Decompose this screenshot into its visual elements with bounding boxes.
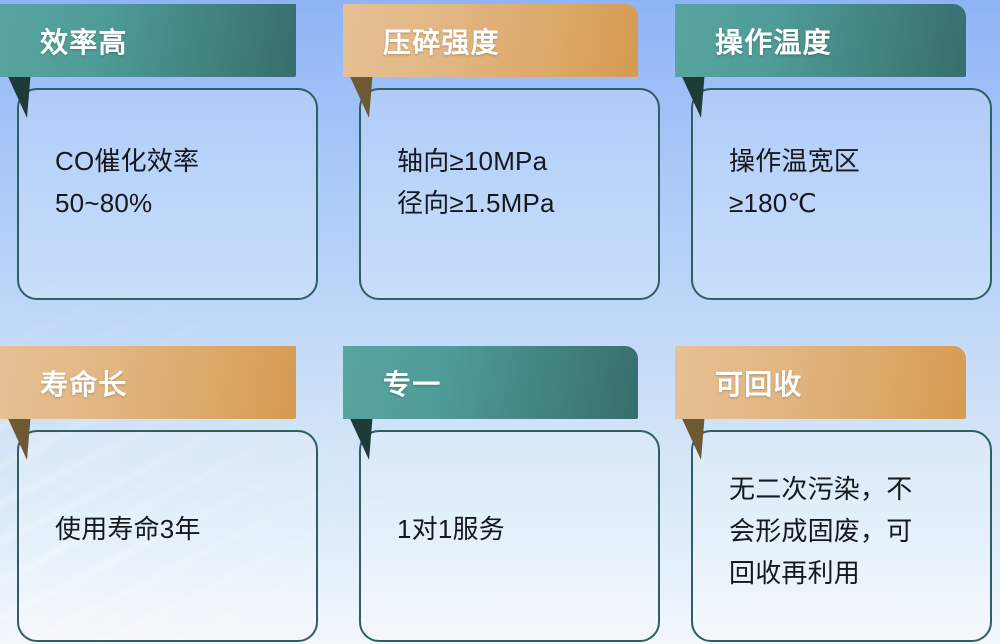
ribbon-banner-efficiency[interactable]: 效率高 (0, 4, 296, 77)
ribbon-title: 专一 (383, 363, 441, 403)
ribbon-banner-crush-strength[interactable]: 压碎强度 (343, 4, 638, 77)
feature-card-dedicated-service[interactable]: 1对1服务 (359, 430, 660, 642)
feature-card-recyclable[interactable]: 无二次污染，不 会形成固废，可 回收再利用 (691, 430, 992, 642)
card-body-text: CO催化效率 50~80% (17, 140, 318, 224)
ribbon-fold-icon (347, 70, 373, 118)
ribbon-title: 可回收 (715, 363, 803, 403)
feature-card-long-life[interactable]: 使用寿命3年 (17, 430, 318, 642)
ribbon-title: 寿命长 (40, 363, 128, 403)
card-body-text: 1对1服务 (359, 508, 660, 550)
ribbon-fold-icon (347, 412, 373, 460)
ribbon-fold-icon (5, 70, 31, 118)
feature-card-operating-temperature[interactable]: 操作温宽区 ≥180℃ (691, 88, 992, 300)
ribbon-banner-recyclable[interactable]: 可回收 (675, 346, 966, 419)
infographic-canvas: CO催化效率 50~80% 效率高 轴向≥10MPa 径向≥1.5MPa 压碎强… (0, 0, 1000, 644)
feature-card-efficiency[interactable]: CO催化效率 50~80% (17, 88, 318, 300)
card-body-text: 无二次污染，不 会形成固废，可 回收再利用 (691, 468, 992, 594)
ribbon-title: 效率高 (40, 21, 128, 61)
ribbon-title: 操作温度 (715, 21, 832, 61)
ribbon-banner-long-life[interactable]: 寿命长 (0, 346, 296, 419)
feature-card-crush-strength[interactable]: 轴向≥10MPa 径向≥1.5MPa (359, 88, 660, 300)
card-body-text: 使用寿命3年 (17, 508, 318, 550)
card-body-text: 操作温宽区 ≥180℃ (691, 140, 992, 224)
ribbon-banner-operating-temperature[interactable]: 操作温度 (675, 4, 966, 77)
ribbon-fold-icon (679, 70, 705, 118)
card-body-text: 轴向≥10MPa 径向≥1.5MPa (359, 140, 660, 224)
ribbon-fold-icon (5, 412, 31, 460)
ribbon-banner-dedicated-service[interactable]: 专一 (343, 346, 638, 419)
ribbon-title: 压碎强度 (383, 21, 500, 61)
ribbon-fold-icon (679, 412, 705, 460)
